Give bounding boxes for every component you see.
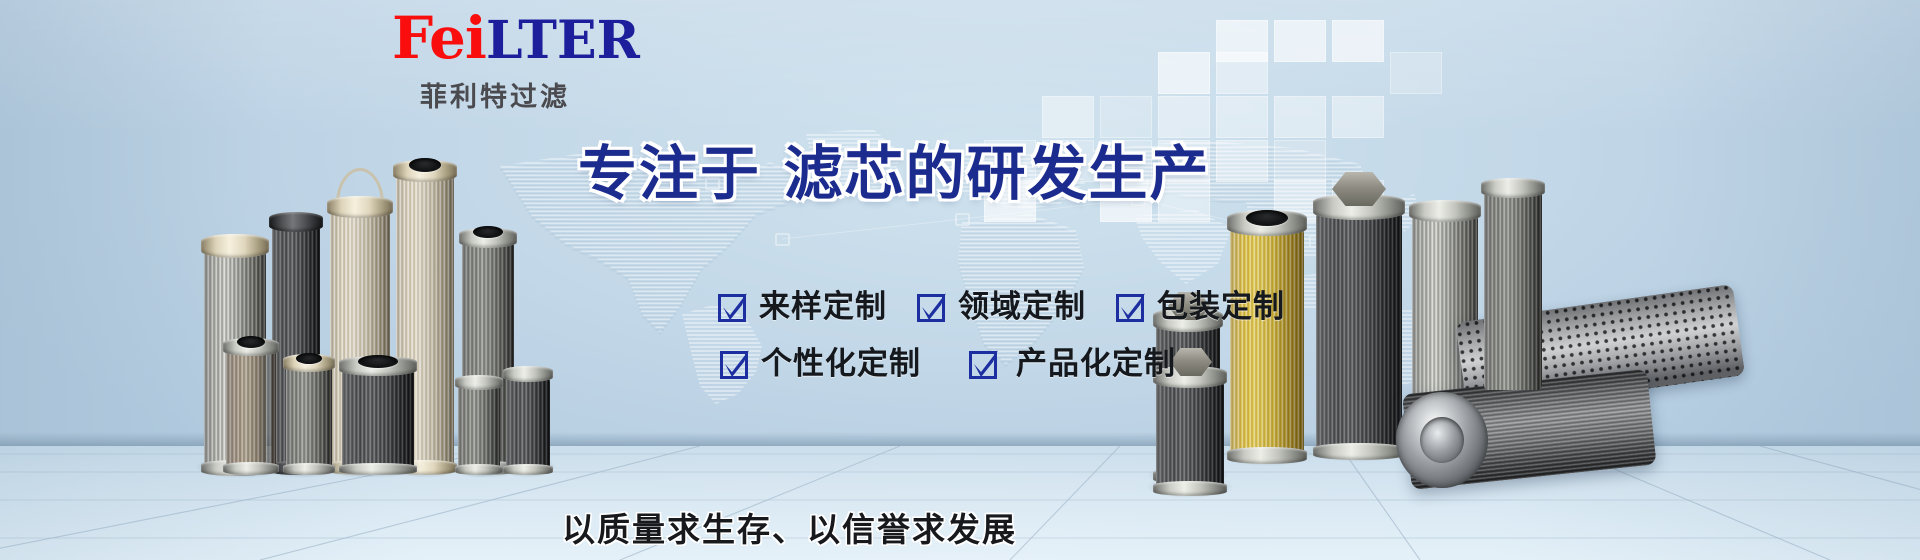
feature-checklist: 来样定制 领域定制 包装定制	[718, 290, 1478, 381]
feature-item-ling-yu[interactable]: 领域定制	[917, 290, 1086, 324]
feature-label: 包装定制	[1157, 290, 1285, 324]
bottom-slogan: 以质量求生存、以信誉求发展	[562, 512, 1017, 548]
logo-chinese-name: 菲利特过滤	[420, 75, 812, 114]
feature-item-lai-yang[interactable]: 来样定制	[718, 290, 887, 324]
checkbox-checked-icon	[1116, 292, 1146, 322]
checkbox-checked-icon	[720, 349, 750, 379]
filter-cartridge	[226, 322, 276, 472]
checkbox-checked-icon	[917, 292, 947, 322]
filter-cartridge	[458, 364, 500, 472]
feature-row-2: 个性化定制 产品化定制	[720, 347, 1478, 381]
filter-cartridge	[342, 344, 414, 472]
filter-end-cap-ring	[1396, 392, 1488, 488]
logo-text-fei: Fei	[392, 4, 486, 72]
headline-text: 专注于 滤芯的研发生产	[578, 143, 1211, 205]
logo-wordmark: FeiLTER	[392, 8, 812, 71]
company-logo[interactable]: FeiLTER 菲利特过滤	[392, 8, 812, 114]
checkbox-checked-icon	[718, 292, 748, 322]
filter-cartridge	[506, 354, 550, 472]
checkbox-checked-icon	[969, 349, 999, 379]
promo-banner: FeiLTER 菲利特过滤 专注于 滤芯的研发生产 来样定制	[0, 0, 1920, 560]
feature-label: 产品化定制	[1016, 347, 1176, 381]
feature-row-1: 来样定制 领域定制 包装定制	[718, 290, 1478, 324]
feature-label: 来样定制	[759, 290, 887, 324]
feature-item-bao-zhuang[interactable]: 包装定制	[1116, 290, 1285, 324]
filter-cartridge	[286, 340, 332, 472]
left-product-group	[190, 142, 630, 472]
feature-label: 个性化定制	[761, 347, 921, 381]
feature-label: 领域定制	[958, 290, 1086, 324]
logo-text-lter: LTER	[486, 10, 640, 71]
feature-item-chan-pin-hua[interactable]: 产品化定制	[969, 347, 1176, 381]
filter-cartridge	[1484, 166, 1542, 390]
feature-item-ge-xing-hua[interactable]: 个性化定制	[720, 347, 921, 381]
